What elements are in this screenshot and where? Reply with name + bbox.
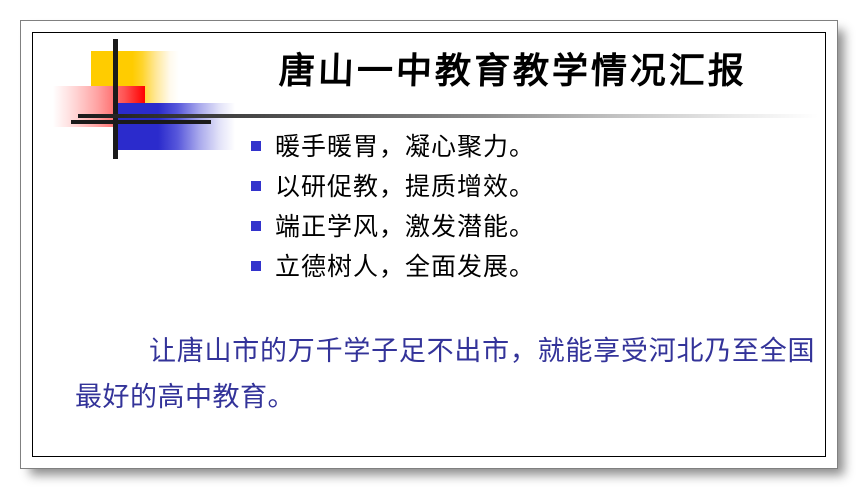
header-divider-rule (78, 114, 818, 118)
list-item: 立德树人，全面发展。 (251, 245, 771, 285)
bullet-list: 暖手暖胃，凝心聚力。 以研促教，提质增效。 端正学风，激发潜能。 立德树人，全面… (251, 125, 771, 285)
list-item: 端正学风，激发潜能。 (251, 205, 771, 245)
list-item-label: 暖手暖胃，凝心聚力。 (275, 127, 535, 163)
list-item-label: 以研促教，提质增效。 (275, 167, 535, 203)
list-item-label: 立德树人，全面发展。 (275, 247, 535, 283)
square-bullet-icon (251, 181, 261, 191)
closing-paragraph: 让唐山市的万千学子足不出市，就能享受河北乃至全国最好的高中教育。 (75, 329, 815, 421)
vertical-bar-icon (113, 39, 118, 159)
blue-gradient-square-icon (115, 103, 235, 150)
list-item-label: 端正学风，激发潜能。 (275, 207, 535, 243)
square-bullet-icon (251, 221, 261, 231)
list-item: 暖手暖胃，凝心聚力。 (251, 125, 771, 165)
slide-outer-frame: 唐山一中教育教学情况汇报 暖手暖胃，凝心聚力。 以研促教，提质增效。 端正学风，… (20, 20, 838, 469)
square-bullet-icon (251, 261, 261, 271)
slide-inner-frame: 唐山一中教育教学情况汇报 暖手暖胃，凝心聚力。 以研促教，提质增效。 端正学风，… (32, 32, 826, 457)
horizontal-bar-icon (71, 120, 211, 124)
square-bullet-icon (251, 141, 261, 151)
list-item: 以研促教，提质增效。 (251, 165, 771, 205)
page-title: 唐山一中教育教学情况汇报 (212, 39, 814, 97)
decorative-logo-graphic (53, 39, 203, 149)
